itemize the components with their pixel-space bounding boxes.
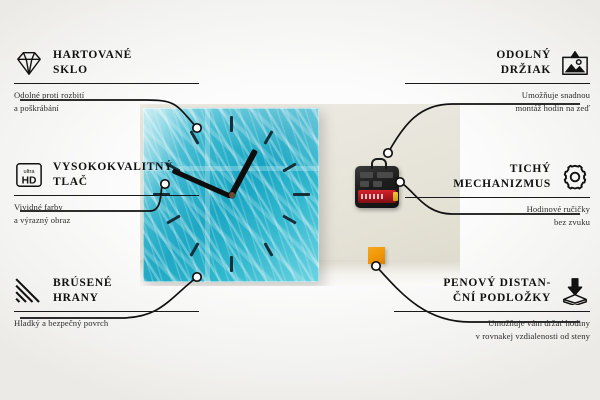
diamond-icon [14, 49, 44, 77]
connector-dot-tempered-glass [193, 124, 201, 132]
feature-high-quality-print[interactable]: ultra HD VYSOKOKVALITNÝ TLAČ Vividné far… [14, 160, 199, 226]
diagonal-stripes-icon [14, 277, 44, 305]
feature-durable-holder[interactable]: ODOLNÝ DRŽIAK Umožňuje snadnou montáž ho… [405, 48, 590, 114]
feature-description: Umožňuje snadnou montáž hodin na zeď [405, 89, 590, 113]
feature-title: PENOVÝ DISTAN- ČNÍ PODLOŽKY [443, 276, 551, 306]
svg-text:ultra: ultra [24, 169, 36, 175]
feature-header: ODOLNÝ DRŽIAK [405, 48, 590, 78]
svg-text:HD: HD [22, 176, 37, 187]
divider [394, 311, 590, 312]
feature-title: HARTOVANÉ SKLO [53, 48, 132, 78]
feature-tempered-glass[interactable]: HARTOVANÉ SKLO Odolné proti rozbití a po… [14, 48, 199, 114]
stacked-arrow-down-icon [560, 277, 590, 305]
feature-description: Vividné farby a výrazný obraz [14, 201, 199, 225]
feature-title: VYSOKOKVALITNÝ TLAČ [53, 160, 173, 190]
ultra-hd-icon: ultra HD [14, 161, 44, 189]
feature-title: TICHÝ MECHANIZMUS [453, 162, 551, 192]
connector-dot-silent-mechanism [396, 178, 404, 186]
feature-header: PENOVÝ DISTAN- ČNÍ PODLOŽKY [394, 276, 590, 306]
gear-icon [560, 163, 590, 191]
feature-description: Umožňuje vám držať hodiny v rovnakej vzd… [394, 317, 590, 341]
infographic-canvas: HARTOVANÉ SKLO Odolné proti rozbití a po… [0, 0, 600, 400]
feature-header: HARTOVANÉ SKLO [14, 48, 199, 78]
feature-description: Hladký a bezpečný povrch [14, 317, 199, 329]
feature-title: BRÚSENÉ HRANY [53, 276, 112, 306]
framed-picture-icon [560, 49, 590, 77]
feature-polished-edges[interactable]: BRÚSENÉ HRANY Hladký a bezpečný povrch [14, 276, 199, 330]
connector-dot-durable-holder [384, 149, 392, 157]
feature-foam-spacers[interactable]: PENOVÝ DISTAN- ČNÍ PODLOŽKY Umožňuje vám… [394, 276, 590, 342]
feature-header: ultra HD VYSOKOKVALITNÝ TLAČ [14, 160, 199, 190]
divider [14, 195, 199, 196]
divider [14, 311, 199, 312]
divider [405, 197, 590, 198]
feature-silent-mechanism[interactable]: TICHÝ MECHANIZMUS Hodinové ručičky bez z… [405, 162, 590, 228]
feature-description: Odolné proti rozbití a poškrábání [14, 89, 199, 113]
feature-title: ODOLNÝ DRŽIAK [496, 48, 551, 78]
feature-description: Hodinové ručičky bez zvuku [405, 203, 590, 227]
connector-dot-foam-spacers [372, 262, 380, 270]
feature-header: TICHÝ MECHANIZMUS [405, 162, 590, 192]
divider [14, 83, 199, 84]
divider [405, 83, 590, 84]
feature-header: BRÚSENÉ HRANY [14, 276, 199, 306]
